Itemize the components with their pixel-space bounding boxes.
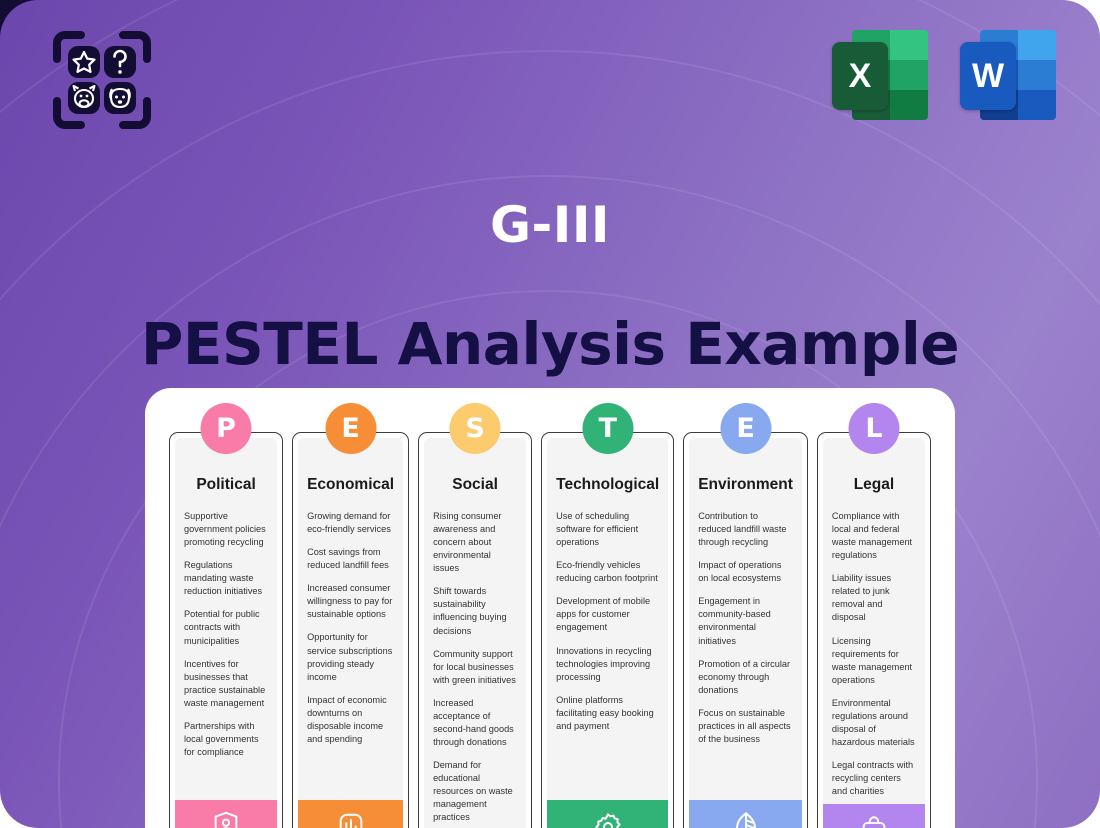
bullet-item: Development of mobile apps for customer … bbox=[556, 595, 659, 634]
bullet-item: Online platforms facilitating easy booki… bbox=[556, 694, 659, 733]
letter-badge: S bbox=[450, 403, 501, 454]
letter-badge: E bbox=[325, 403, 376, 454]
shield-person-icon bbox=[210, 810, 242, 828]
column-panel: LegalCompliance with local and federal w… bbox=[823, 438, 925, 828]
bullet-item: Community support for local businesses w… bbox=[433, 648, 517, 687]
column-title: Social bbox=[433, 476, 517, 494]
bullet-item: Impact of operations on local ecosystems bbox=[698, 559, 793, 585]
pet-scanner-logo bbox=[51, 29, 153, 131]
bullet-item: Promotion of a circular economy through … bbox=[698, 658, 793, 697]
excel-letter: X bbox=[832, 42, 888, 110]
bullet-item: Opportunity for service subscriptions pr… bbox=[307, 631, 394, 683]
bullet-item: Eco-friendly vehicles reducing carbon fo… bbox=[556, 559, 659, 585]
office-app-icons: X W bbox=[832, 30, 1056, 126]
bullet-item: Shift towards sustainability influencing… bbox=[433, 585, 517, 637]
pestel-column-legal[interactable]: LLegalCompliance with local and federal … bbox=[817, 432, 931, 828]
gear-icon bbox=[592, 810, 624, 828]
bullet-item: Engagement in community-based environmen… bbox=[698, 595, 793, 647]
bullet-item: Potential for public contracts with muni… bbox=[184, 608, 268, 647]
briefcase-icon bbox=[858, 814, 890, 828]
pestel-column-economical[interactable]: EEconomicalGrowing demand for eco-friend… bbox=[292, 432, 409, 828]
pestel-columns: PPoliticalSupportive government policies… bbox=[169, 432, 931, 828]
letter-badge: L bbox=[848, 403, 899, 454]
column-title: Political bbox=[184, 476, 268, 494]
bullet-item: Use of scheduling software for efficient… bbox=[556, 510, 659, 549]
microsoft-word-icon[interactable]: W bbox=[960, 30, 1056, 126]
column-title: Technological bbox=[556, 476, 659, 494]
bullet-item: Cost savings from reduced landfill fees bbox=[307, 546, 394, 572]
column-title: Environment bbox=[698, 476, 793, 494]
column-panel: SocialRising consumer awareness and conc… bbox=[424, 438, 526, 828]
bullet-item: Increased consumer willingness to pay fo… bbox=[307, 582, 394, 621]
bullet-item: Demand for educational resources on wast… bbox=[433, 759, 517, 824]
bullet-item: Rising consumer awareness and concern ab… bbox=[433, 510, 517, 575]
bar-chart-icon-tile[interactable] bbox=[298, 800, 403, 828]
pestel-column-environment[interactable]: EEnvironmentContribution to reduced land… bbox=[683, 432, 808, 828]
microsoft-excel-icon[interactable]: X bbox=[832, 30, 928, 126]
page-title: PESTEL Analysis Example bbox=[0, 310, 1100, 378]
pestel-card: PPoliticalSupportive government policies… bbox=[145, 388, 955, 828]
shield-person-icon-tile[interactable] bbox=[175, 800, 277, 828]
bullet-item: Environmental regulations around disposa… bbox=[832, 697, 916, 749]
bullet-item: Incentives for businesses that practice … bbox=[184, 658, 268, 710]
pestel-column-technological[interactable]: TTechnologicalUse of scheduling software… bbox=[541, 432, 674, 828]
bullet-item: Contribution to reduced landfill waste t… bbox=[698, 510, 793, 549]
letter-badge: E bbox=[720, 403, 771, 454]
bullet-list: Growing demand for eco-friendly services… bbox=[307, 510, 394, 794]
column-panel: EnvironmentContribution to reduced landf… bbox=[689, 438, 802, 828]
slide-canvas: X W G-III PESTEL Analysis Example PPolit… bbox=[0, 0, 1100, 828]
gear-icon-tile[interactable] bbox=[547, 800, 668, 828]
bullet-item: Focus on sustainable practices in all as… bbox=[698, 707, 793, 746]
company-name: G-III bbox=[0, 196, 1100, 254]
letter-badge: P bbox=[201, 403, 252, 454]
column-title: Economical bbox=[307, 476, 394, 494]
bullet-list: Use of scheduling software for efficient… bbox=[556, 510, 659, 794]
leaf-icon-tile[interactable] bbox=[689, 800, 802, 828]
column-panel: PoliticalSupportive government policies … bbox=[175, 438, 277, 828]
bullet-item: Legal contracts with recycling centers a… bbox=[832, 759, 916, 798]
bullet-item: Liability issues related to junk removal… bbox=[832, 572, 916, 624]
column-panel: TechnologicalUse of scheduling software … bbox=[547, 438, 668, 828]
bullet-list: Supportive government policies promoting… bbox=[184, 510, 268, 794]
bullet-item: Impact of economic downturns on disposab… bbox=[307, 694, 394, 746]
bullet-item: Supportive government policies promoting… bbox=[184, 510, 268, 549]
bullet-list: Contribution to reduced landfill waste t… bbox=[698, 510, 793, 794]
bullet-item: Innovations in recycling technologies im… bbox=[556, 645, 659, 684]
leaf-icon bbox=[730, 810, 762, 828]
bullet-item: Growing demand for eco-friendly services bbox=[307, 510, 394, 536]
bullet-item: Partnerships with local governments for … bbox=[184, 720, 268, 759]
column-title: Legal bbox=[832, 476, 916, 494]
bullet-item: Regulations mandating waste reduction in… bbox=[184, 559, 268, 598]
bar-chart-icon bbox=[335, 810, 367, 828]
word-letter: W bbox=[960, 42, 1016, 110]
pestel-column-political[interactable]: PPoliticalSupportive government policies… bbox=[169, 432, 283, 828]
bullet-list: Compliance with local and federal waste … bbox=[832, 510, 916, 798]
column-panel: EconomicalGrowing demand for eco-friendl… bbox=[298, 438, 403, 828]
bullet-list: Rising consumer awareness and concern ab… bbox=[433, 510, 517, 824]
pestel-column-social[interactable]: SSocialRising consumer awareness and con… bbox=[418, 432, 532, 828]
bullet-item: Increased acceptance of second-hand good… bbox=[433, 697, 517, 749]
bullet-item: Licensing requirements for waste managem… bbox=[832, 635, 916, 687]
bullet-item: Compliance with local and federal waste … bbox=[832, 510, 916, 562]
letter-badge: T bbox=[582, 403, 633, 454]
briefcase-icon-tile[interactable] bbox=[823, 804, 925, 828]
